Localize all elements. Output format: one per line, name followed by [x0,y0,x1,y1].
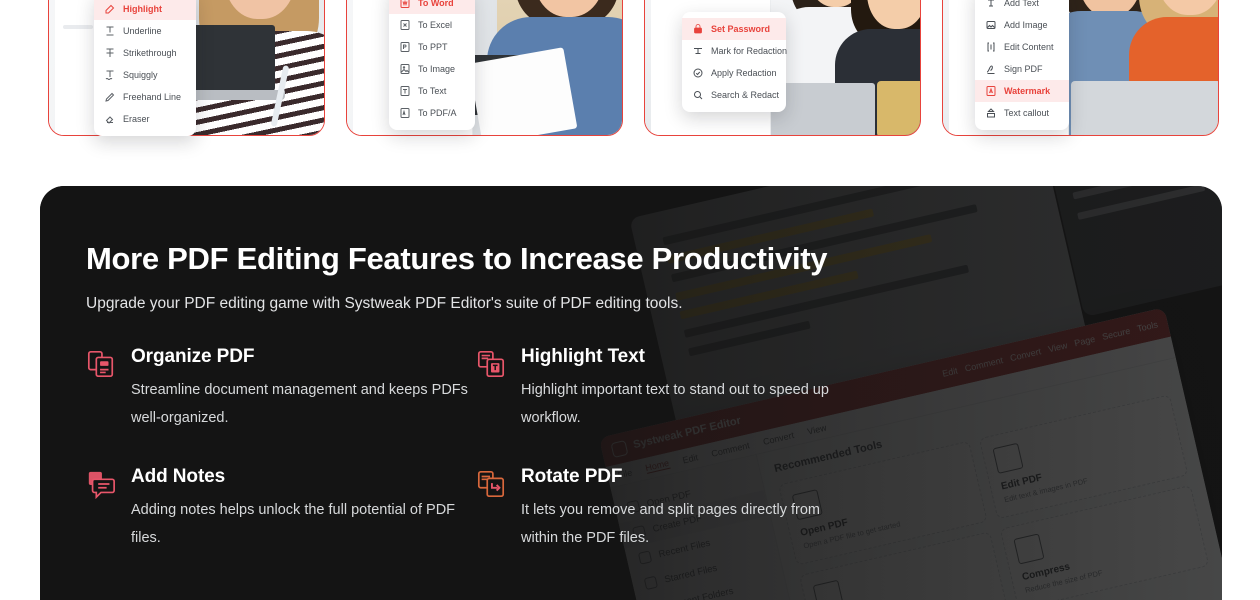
menu-item-label: Add Text [1004,0,1039,8]
feature-add-notes[interactable]: Add Notes Adding notes helps unlock the … [86,466,476,552]
menu-item-to-pdfa[interactable]: To PDF/A [389,102,475,124]
menu-item-add-text[interactable]: Add Text [975,0,1069,14]
menu-item-label: Squiggly [123,70,158,80]
feature-rotate-pdf[interactable]: Rotate PDF It lets you remove and split … [476,466,866,552]
lock-icon [692,23,704,35]
menu-item-label: Search & Redact [711,90,779,100]
menu-item-label: To Text [418,86,446,96]
excel-icon [399,19,411,31]
feature-title: Rotate PDF [521,466,861,488]
search-icon [692,89,704,101]
marker-icon [692,45,704,57]
feature-description: Streamline document management and keeps… [131,377,471,432]
word-icon [399,0,411,9]
underline-icon [104,25,116,37]
menu-item-label: Underline [123,26,162,36]
menu-item-label: To PDF/A [418,108,457,118]
annotation-tools-menu[interactable]: Highlight Underline Strikethrough Squigg… [94,0,196,136]
menu-item-label: To Image [418,64,455,74]
menu-item-squiggly[interactable]: Squiggly [94,64,196,86]
menu-item-label: Sign PDF [1004,64,1043,74]
menu-item-label: Watermark [1004,86,1050,96]
features-content: More PDF Editing Features to Increase Pr… [40,186,1222,600]
feature-organize-pdf[interactable]: Organize PDF Streamline document managem… [86,346,476,432]
feature-title: Highlight Text [521,346,861,368]
feature-highlight-text[interactable]: Highlight Text Highlight important text … [476,346,866,432]
menu-item-to-image[interactable]: To Image [389,58,475,80]
menu-item-label: Highlight [123,4,162,14]
image-icon [399,63,411,75]
menu-item-label: Apply Redaction [711,68,777,78]
page-subtitle: Upgrade your PDF editing game with Systw… [86,295,1222,313]
convert-tools-menu[interactable]: To Word To Excel To PPT To Image To Text… [389,0,475,130]
highlight-text-icon [476,349,506,379]
menu-item-search-and-redact[interactable]: Search & Redact [682,84,786,106]
eraser-icon [104,113,116,125]
promo-card-convert[interactable] [346,0,623,136]
watermark-icon [985,85,997,97]
edit-content-icon [985,41,997,53]
add-text-icon [985,0,997,9]
menu-item-label: Edit Content [1004,42,1054,52]
menu-item-underline[interactable]: Underline [94,20,196,42]
menu-item-watermark[interactable]: Watermark [975,80,1069,102]
pen-icon [104,91,116,103]
menu-item-label: Add Image [1004,20,1048,30]
menu-item-to-word[interactable]: To Word [389,0,475,14]
menu-item-strikethrough[interactable]: Strikethrough [94,42,196,64]
ppt-icon [399,41,411,53]
menu-item-text-callout[interactable]: Text callout [975,102,1069,124]
menu-item-label: Eraser [123,114,150,124]
menu-item-to-excel[interactable]: To Excel [389,14,475,36]
menu-item-add-image[interactable]: Add Image [975,14,1069,36]
feature-description: Highlight important text to stand out to… [521,377,861,432]
menu-item-label: To PPT [418,42,448,52]
feature-title: Add Notes [131,466,471,488]
menu-item-label: To Word [418,0,454,8]
menu-item-edit-content[interactable]: Edit Content [975,36,1069,58]
menu-item-label: Mark for Redaction [711,46,787,56]
squiggly-icon [104,69,116,81]
menu-item-label: Text callout [1004,108,1049,118]
text-icon [399,85,411,97]
pdfa-icon [399,107,411,119]
page-title: More PDF Editing Features to Increase Pr… [86,242,1222,276]
rotate-pdf-icon [476,469,506,499]
menu-item-label: Set Password [711,24,770,34]
menu-item-highlight[interactable]: Highlight [94,0,196,20]
menu-item-label: To Excel [418,20,452,30]
feature-title: Organize PDF [131,346,471,368]
organize-pdf-icon [86,349,116,379]
menu-item-to-text[interactable]: To Text [389,80,475,102]
menu-item-mark-for-redaction[interactable]: Mark for Redaction [682,40,786,62]
menu-item-eraser[interactable]: Eraser [94,108,196,130]
secure-tools-menu[interactable]: Set Password Mark for Redaction Apply Re… [682,12,786,112]
menu-item-label: Strikethrough [123,48,177,58]
feature-description: Adding notes helps unlock the full poten… [131,497,471,552]
signature-icon [985,63,997,75]
callout-icon [985,107,997,119]
feature-description: It lets you remove and split pages direc… [521,497,861,552]
menu-item-apply-redaction[interactable]: Apply Redaction [682,62,786,84]
menu-item-sign-pdf[interactable]: Sign PDF [975,58,1069,80]
strikethrough-icon [104,47,116,59]
add-image-icon [985,19,997,31]
menu-item-freehand-line[interactable]: Freehand Line [94,86,196,108]
edit-tools-menu[interactable]: Add Text Add Image Edit Content Sign PDF… [975,0,1069,130]
menu-item-set-password[interactable]: Set Password [682,18,786,40]
page-root: Highlight Underline Strikethrough Squigg… [0,0,1260,600]
check-icon [692,67,704,79]
features-panel: Systweak PDF Editor Edit Comment Convert… [40,186,1222,600]
add-notes-icon [86,469,116,499]
highlighter-icon [104,3,116,15]
feature-list: Organize PDF Streamline document managem… [86,346,1222,552]
menu-item-label: Freehand Line [123,92,181,102]
menu-item-to-ppt[interactable]: To PPT [389,36,475,58]
